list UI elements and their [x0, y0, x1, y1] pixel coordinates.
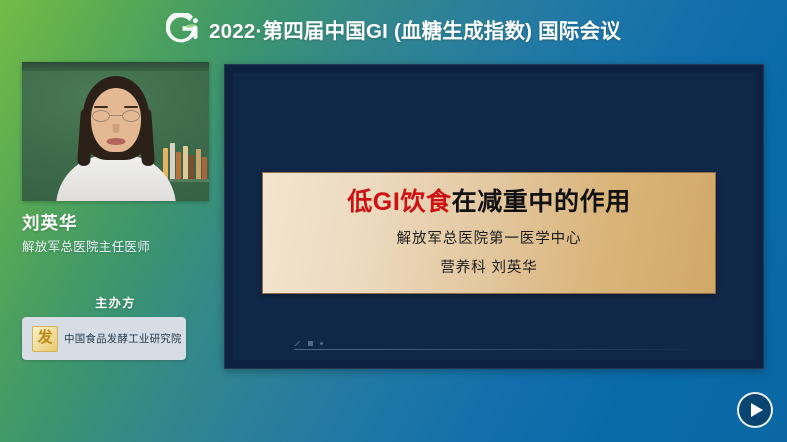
organizer-label: 主办方 [22, 294, 209, 311]
slide-footer-marks [294, 341, 323, 346]
slide-subtitle-institution: 解放军总医院第一医学中心 [263, 227, 715, 248]
square-icon [308, 341, 313, 346]
speaker-title: 解放军总医院主任医师 [22, 236, 150, 255]
slide-title-highlight: 低GI饮食 [347, 188, 451, 216]
slide-viewer[interactable]: 低GI饮食在减重中的作用 解放军总医院第一医学中心 营养科 刘英华 [224, 64, 764, 369]
page-header: 2022·第四届中国GI (血糖生成指数) 国际会议 [0, 0, 787, 62]
slide-title-band: 低GI饮食在减重中的作用 解放军总医院第一医学中心 营养科 刘英华 [262, 172, 716, 294]
bookshelf-books [163, 139, 207, 179]
slide-subtitle-department: 营养科 刘英华 [263, 256, 715, 277]
slide-title: 低GI饮食在减重中的作用 [263, 182, 715, 218]
speaker-eyeglasses [92, 110, 140, 123]
conference-player-screen: 2022·第四届中国GI (血糖生成指数) 国际会议 刘英华 解放军总医院主任医… [0, 0, 787, 442]
gi-conference-logo-icon [166, 13, 200, 45]
speaker-webcam-feed[interactable] [22, 62, 209, 201]
organizer-name: 中国食品发酵工业研究院 [64, 331, 182, 346]
slide-footer-rule [294, 349, 690, 350]
slash-icon [294, 341, 300, 347]
slide-title-rest: 在减重中的作用 [452, 188, 631, 216]
page-title: 2022·第四届中国GI (血糖生成指数) 国际会议 [209, 14, 621, 44]
play-button[interactable] [737, 392, 773, 428]
organizer-emblem-icon: 发 [32, 326, 58, 352]
slide-canvas: 低GI饮食在减重中的作用 解放军总医院第一医学中心 营养科 刘英华 [233, 73, 755, 360]
speaker-mouth [106, 138, 125, 145]
play-icon [751, 403, 763, 417]
dot-icon [320, 342, 323, 345]
organizer-logo-card[interactable]: 发 中国食品发酵工业研究院 [22, 317, 186, 360]
speaker-nose [112, 124, 119, 133]
speaker-name: 刘英华 [22, 210, 78, 235]
